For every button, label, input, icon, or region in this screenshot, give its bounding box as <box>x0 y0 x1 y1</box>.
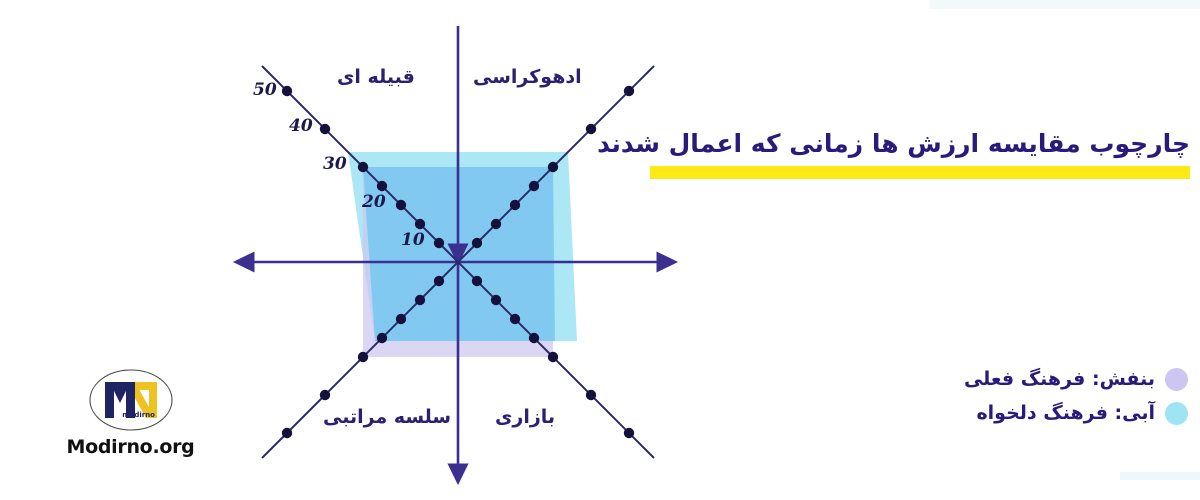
slide-title-block: چارچوب مقایسه ارزش ها زمانی که اعمال شدن… <box>645 128 1190 179</box>
tick-label-10: 10 <box>401 230 425 250</box>
competing-values-radar-chart: ادهوکراسی قبیله ای سلسه مراتبی بازاری 10… <box>205 0 705 500</box>
radar-svg <box>205 0 705 500</box>
slide-artifact-top-right <box>930 0 1200 9</box>
axis-label-hierarchy: سلسه مراتبی <box>323 408 451 427</box>
modirno-logo-icon: modirno <box>75 368 187 434</box>
axis-label-market: بازاری <box>495 408 555 427</box>
slide-artifact-bottom-right <box>1120 472 1200 480</box>
slide-title: چارچوب مقایسه ارزش ها زمانی که اعمال شدن… <box>645 128 1190 159</box>
tick-label-50: 50 <box>253 80 277 100</box>
legend-label-current: بنفش: فرهنگ فعلی <box>964 368 1155 390</box>
legend-label-desired: آبی: فرهنگ دلخواه <box>976 402 1155 424</box>
axis-label-adhocracy: ادهوکراسی <box>473 68 582 87</box>
logo-inner-wordmark: modirno <box>122 411 155 419</box>
brand-logo-block: modirno Modirno.org <box>48 368 213 458</box>
legend-item-current: بنفش: فرهنگ فعلی <box>964 362 1188 396</box>
legend-swatch-cyan-circle-icon <box>1165 402 1188 425</box>
chart-legend: بنفش: فرهنگ فعلی آبی: فرهنگ دلخواه <box>964 362 1188 430</box>
brand-wordmark: Modirno.org <box>48 436 213 458</box>
tick-label-30: 30 <box>323 154 347 174</box>
tick-label-40: 40 <box>289 116 313 136</box>
legend-item-desired: آبی: فرهنگ دلخواه <box>964 396 1188 430</box>
title-underline-bar <box>650 166 1190 179</box>
slide-canvas: ادهوکراسی قبیله ای سلسه مراتبی بازاری 10… <box>0 0 1200 500</box>
legend-swatch-purple-circle-icon <box>1165 368 1188 391</box>
tick-label-20: 20 <box>362 192 386 212</box>
axis-label-clan: قبیله ای <box>337 68 415 87</box>
